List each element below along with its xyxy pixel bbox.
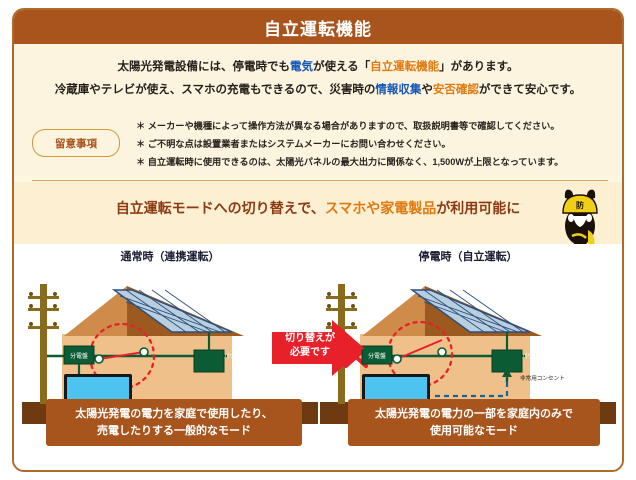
intro-highlight-safety: 安否確認 [433,84,479,96]
notice-list: ＊ メーカーや機種によって操作方法が異なる場合がありますので、取扱説明書等で確認… [136,118,563,168]
intro-text-1a: 太陽光発電設備には、停電時でも [117,61,290,73]
caption-left-line1: 太陽光発電の電力を家庭で使用したり、 [50,406,298,423]
notice-item: ＊ メーカーや機種によって操作方法が異なる場合がありますので、取扱説明書等で確認… [136,118,563,132]
label-distribution-board-left: 分電盤 [70,352,88,360]
intro-highlight-mode: 自立運転機能 [370,61,439,73]
intro-line-1: 太陽光発電設備には、停電時でも電気が使える「自立運転機能」があります。 [117,58,518,74]
intro-line-2: 冷蔵庫やテレビが使え、スマホの充電もできるので、災害時の情報収集や安否確認ができ… [55,81,581,97]
infographic-frame: 自立運転機能 太陽光発電設備には、停電時でも電気が使える「自立運転機能」がありま… [12,8,624,472]
notice-section: 留意事項 ＊ メーカーや機種によって操作方法が異なる場合がありますので、取扱説明… [14,110,622,176]
notice-item: ＊ ご不明な点は設置業者またはシステムメーカーにお問い合わせください。 [136,136,563,150]
panel-outage-operation: 停電時（自立運転） [320,244,616,470]
panel-heading-right: 停電時（自立運転） [320,248,616,264]
intro-highlight-info: 情報収集 [375,84,421,96]
header-bar: 自立運転機能 [14,10,622,44]
caption-left: 太陽光発電の電力を家庭で使用したり、 売電したりする一般的なモード [46,399,302,446]
label-distribution-board-right: 分電盤 [368,352,386,360]
label-power-conditioner-left: パワーコンディショナ [224,352,278,360]
caption-right-line1: 太陽光発電の電力の一部を家庭内のみで [352,406,596,423]
intro-text-1e: 」があります。 [439,61,518,73]
panel-heading-left: 通常時（連携運転） [22,248,318,264]
caption-left-line2: 売電したりする一般的なモード [50,423,298,440]
label-power-conditioner-right: パワーコンディショナ [522,352,576,360]
band-title-c: が利用可能に [436,200,520,216]
intro-text-2a: 冷蔵庫やテレビが使え、スマホの充電もできるので、災害時の [55,84,376,96]
caption-right: 太陽光発電の電力の一部を家庭内のみで 使用可能なモード [348,399,600,446]
intro-text-2c: や [421,84,433,96]
page-title: 自立運転機能 [264,15,372,40]
notice-item: ＊ 自立運転時に使用できるのは、太陽光パネルの最大出力に関係なく、1,500Wが… [136,154,563,168]
intro-text-1c: が使える「 [313,61,370,73]
band-title-a: 自立運転モードへの切り替えで、 [116,200,325,216]
svg-text:防: 防 [576,200,584,210]
band-title: 自立運転モードへの切り替えで、スマホや家電製品が利用可能に [14,198,622,218]
intro-section: 太陽光発電設備には、停電時でも電気が使える「自立運転機能」があります。 冷蔵庫や… [14,44,622,110]
label-emergency-outlet: 非常用コンセント [520,374,565,382]
notice-badge: 留意事項 [32,129,120,157]
switch-required-arrow-icon [272,320,364,376]
section-divider [32,180,608,181]
intro-highlight-electricity: 電気 [290,61,313,73]
diagram-area: 通常時（連携運転） [14,244,622,470]
highlight-band: 自立運転モードへの切り替えで、スマホや家電製品が利用可能に 防 [14,182,622,244]
caption-right-line2: 使用可能なモード [352,423,596,440]
intro-text-2e: ができて安心です。 [479,84,581,96]
band-title-highlight: スマホや家電製品 [325,200,437,216]
